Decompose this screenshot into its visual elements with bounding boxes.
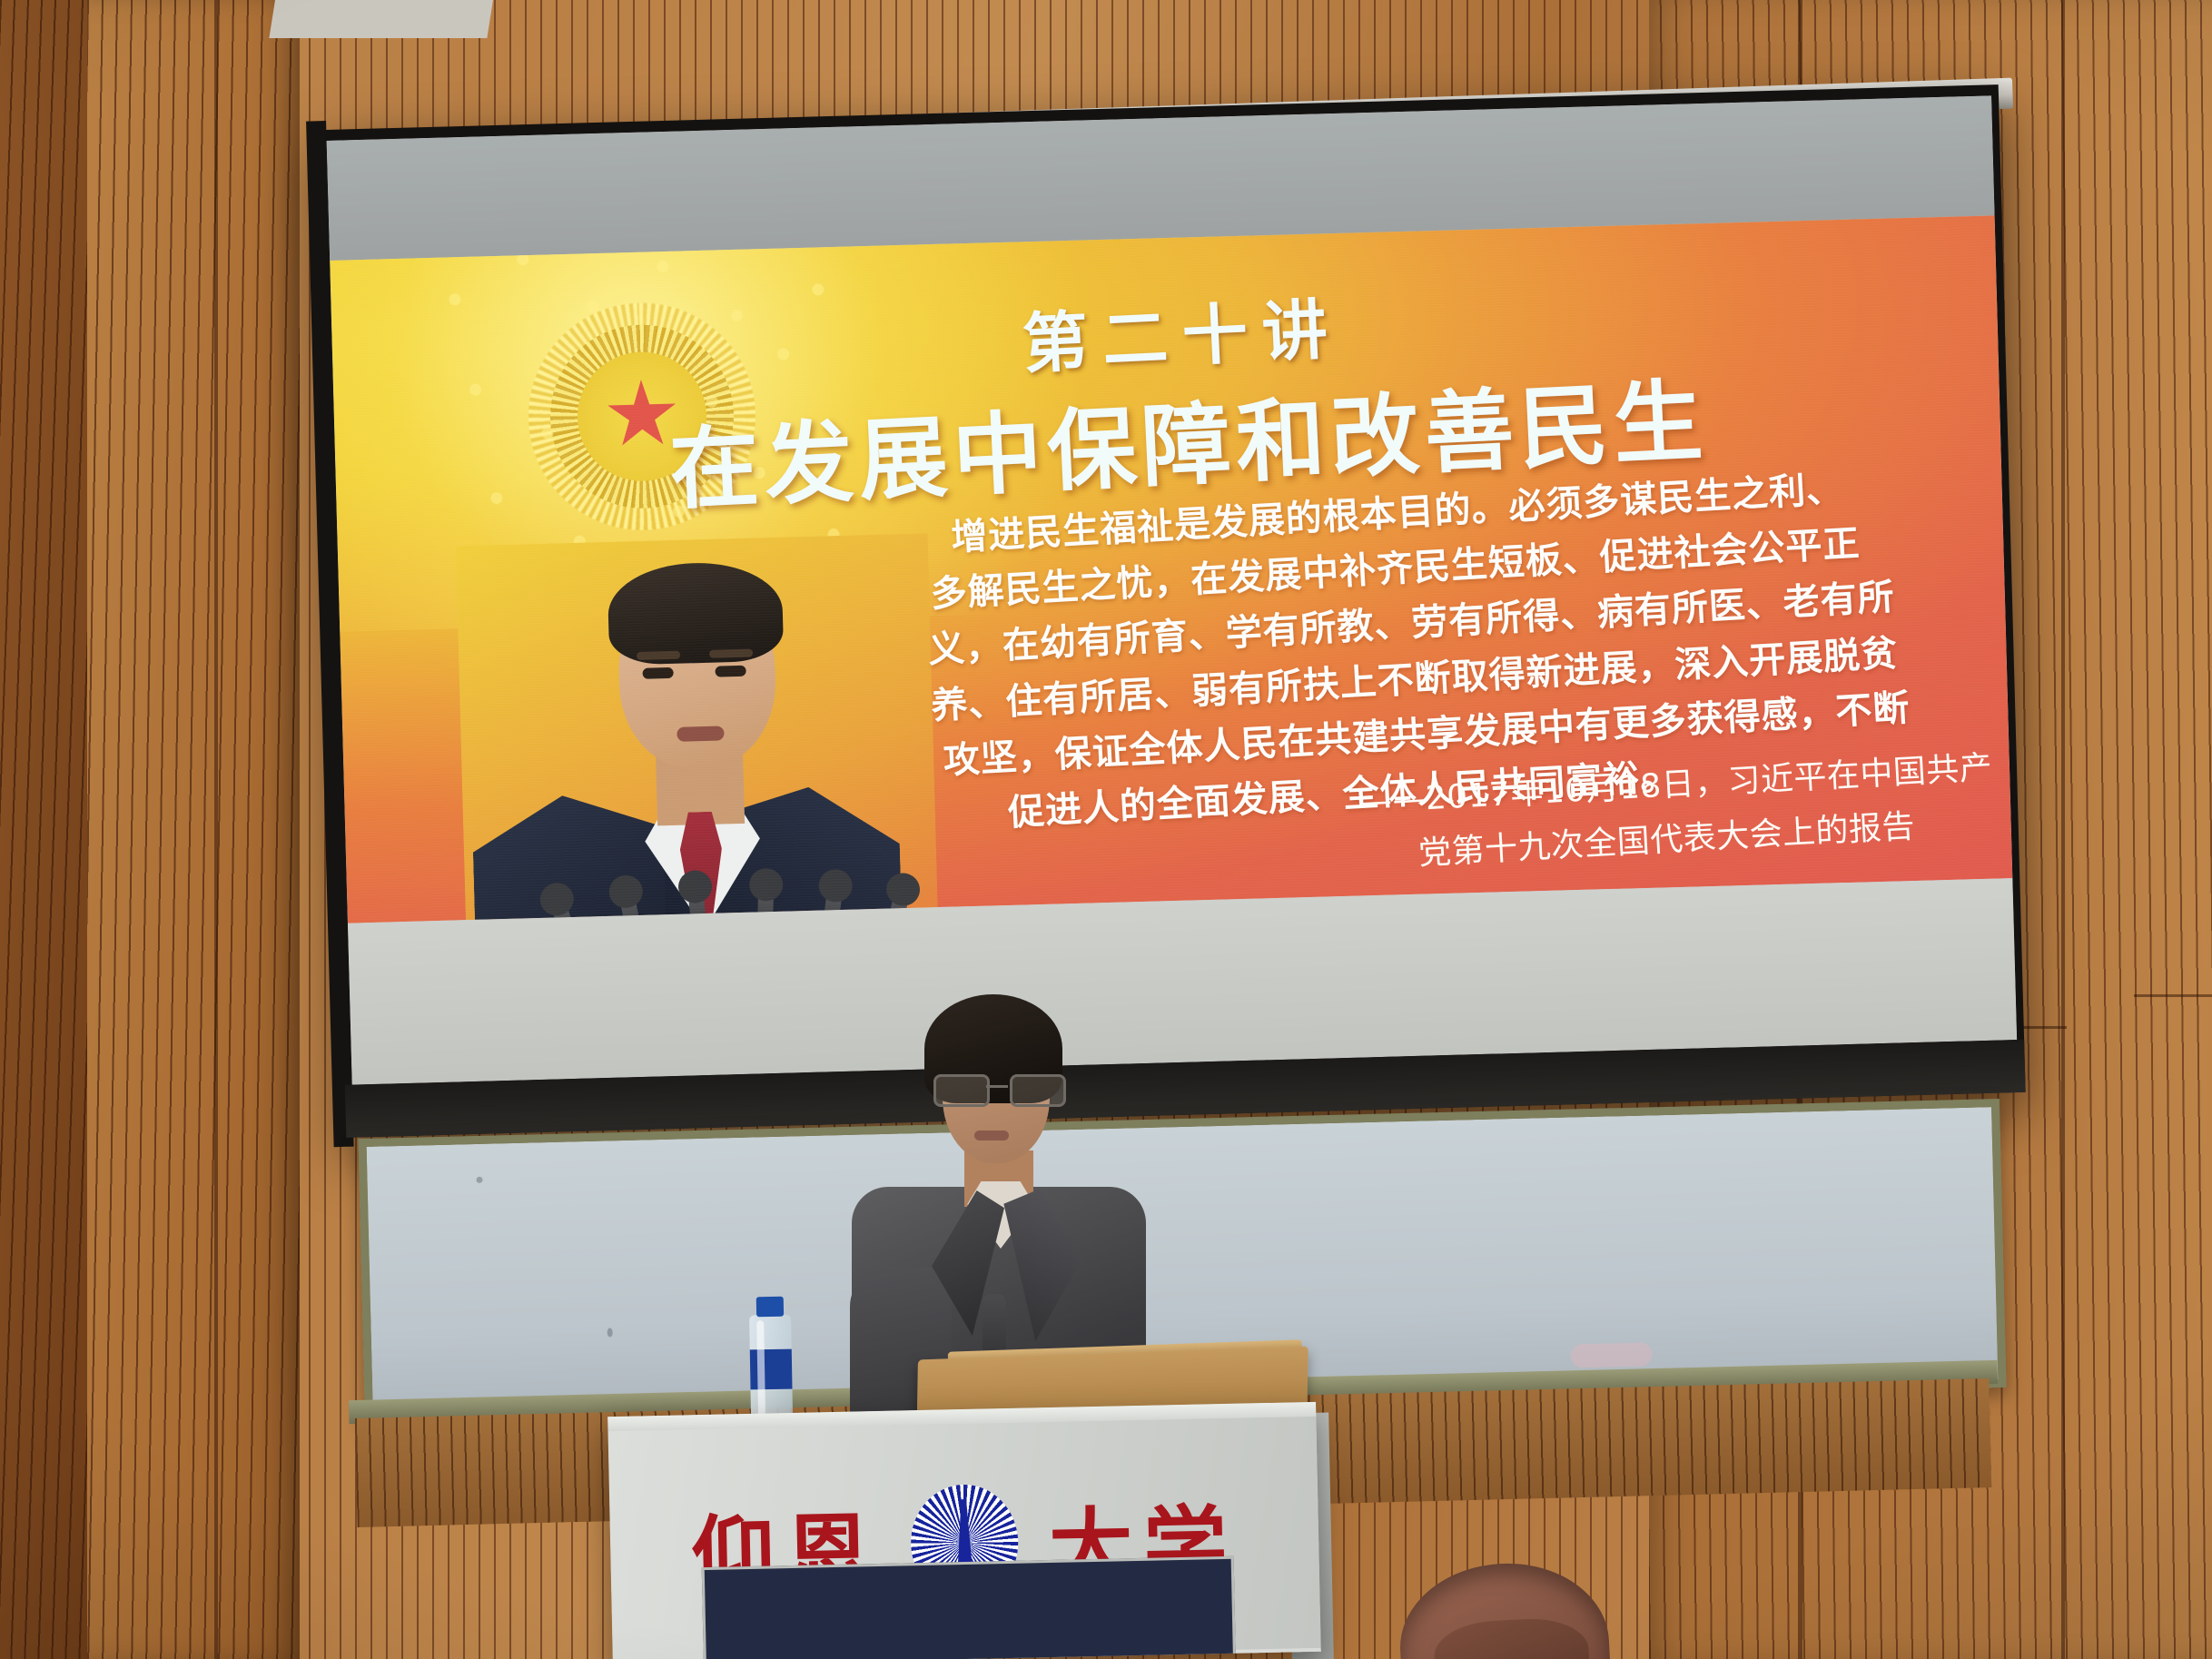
- projection-screen: 第二十讲 在发展中保障和改善民生: [319, 84, 2025, 1138]
- far-left-wood-wall: [0, 0, 87, 1659]
- wall-seam: [2061, 0, 2065, 1659]
- presentation-slide: 第二十讲 在发展中保障和改善民生: [330, 215, 2012, 923]
- lectern: 仰恩 大学: [607, 1402, 1321, 1659]
- water-bottle: [749, 1297, 794, 1429]
- wall-seam-horizontal: [2134, 994, 2212, 997]
- wall-seam: [214, 0, 218, 1659]
- ceiling-notch: [269, 0, 493, 38]
- lecture-hall-photo: 第二十讲 在发展中保障和改善民生: [0, 0, 2212, 1659]
- podium-front-panel: [702, 1556, 1236, 1659]
- screen-surface: 第二十讲 在发展中保障和改善民生: [327, 95, 2017, 1084]
- xi-jinping-portrait-photo: [456, 533, 940, 923]
- eyeglasses-icon: [933, 1074, 1061, 1101]
